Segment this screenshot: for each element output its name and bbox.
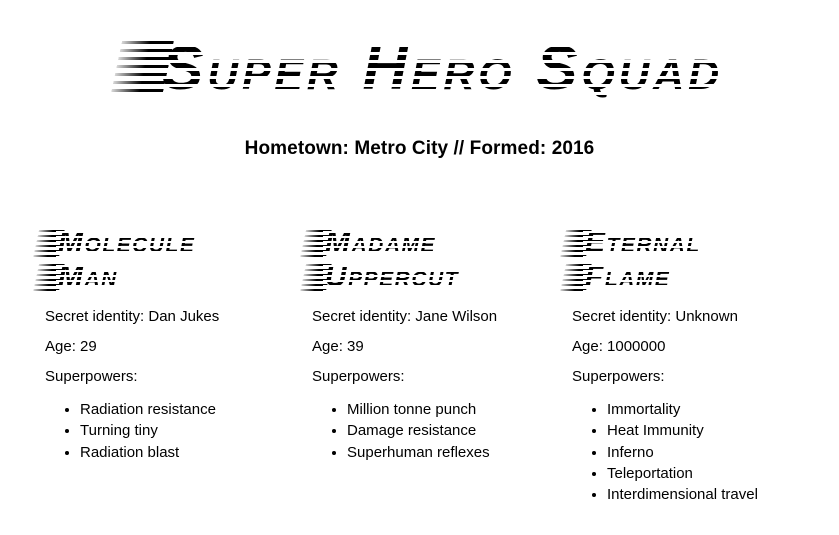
hero-secret-identity: Secret identity: Dan Jukes bbox=[45, 309, 301, 324]
hero-name-speed-row: Molecule bbox=[36, 228, 301, 258]
hero-superpowers-label: Superpowers: bbox=[45, 369, 301, 384]
list-item: Inferno bbox=[607, 442, 838, 463]
hero-details: Secret identity: Unknown Age: 1000000 Su… bbox=[563, 309, 838, 505]
page-title-speed-row: Super Hero Squad bbox=[116, 38, 723, 100]
subtitle: Hometown: Metro City // Formed: 2016 bbox=[0, 138, 839, 160]
hero-name-line: Uppercut bbox=[325, 262, 459, 292]
list-item: Superhuman reflexes bbox=[347, 442, 558, 463]
hero-secret-identity: Secret identity: Jane Wilson bbox=[312, 309, 558, 324]
hero-superpowers-label: Superpowers: bbox=[312, 369, 558, 384]
list-item: Heat Immunity bbox=[607, 420, 838, 441]
hero-name-line: Man bbox=[58, 262, 118, 292]
list-item: Teleportation bbox=[607, 463, 838, 484]
list-item: Damage resistance bbox=[347, 420, 558, 441]
hero-name-line: Eternal bbox=[585, 228, 701, 258]
page-title: Super Hero Squad bbox=[0, 0, 839, 100]
hero-name-speed-row: Flame bbox=[563, 262, 838, 292]
list-item: Million tonne punch bbox=[347, 399, 558, 420]
hero-name-line: Madame bbox=[325, 228, 436, 258]
hero-card-list: Molecule Man Secret identity: Dan Jukes … bbox=[0, 228, 839, 505]
hero-name-speed-row: Eternal bbox=[563, 228, 838, 258]
hero-age: Age: 39 bbox=[312, 339, 558, 354]
list-item: Immortality bbox=[607, 399, 838, 420]
hero-name: Madame Uppercut bbox=[303, 228, 558, 292]
hero-secret-identity: Secret identity: Unknown bbox=[572, 309, 838, 324]
hero-powers-list: Radiation resistance Turning tiny Radiat… bbox=[36, 399, 301, 463]
hero-card: Madame Uppercut Secret identity: Jane Wi… bbox=[303, 228, 558, 505]
hero-details: Secret identity: Jane Wilson Age: 39 Sup… bbox=[303, 309, 558, 463]
list-item: Turning tiny bbox=[80, 420, 301, 441]
hero-name: Molecule Man bbox=[36, 228, 301, 292]
hero-powers-list: Million tonne punch Damage resistance Su… bbox=[303, 399, 558, 463]
hero-name: Eternal Flame bbox=[563, 228, 838, 292]
hero-card: Molecule Man Secret identity: Dan Jukes … bbox=[36, 228, 301, 505]
hero-name-speed-row: Madame bbox=[303, 228, 558, 258]
page-title-text: Super Hero Squad bbox=[162, 38, 723, 100]
hero-superpowers-label: Superpowers: bbox=[572, 369, 838, 384]
hero-details: Secret identity: Dan Jukes Age: 29 Super… bbox=[36, 309, 301, 463]
hero-name-line: Flame bbox=[585, 262, 670, 292]
hero-name-speed-row: Uppercut bbox=[303, 262, 558, 292]
hero-name-speed-row: Man bbox=[36, 262, 301, 292]
list-item: Radiation blast bbox=[80, 442, 301, 463]
hero-powers-list: Immortality Heat Immunity Inferno Telepo… bbox=[563, 399, 838, 505]
hero-name-line: Molecule bbox=[58, 228, 195, 258]
hero-age: Age: 29 bbox=[45, 339, 301, 354]
list-item: Interdimensional travel bbox=[607, 484, 838, 505]
hero-card: Eternal Flame Secret identity: Unknown A… bbox=[563, 228, 838, 505]
list-item: Radiation resistance bbox=[80, 399, 301, 420]
hero-age: Age: 1000000 bbox=[572, 339, 838, 354]
